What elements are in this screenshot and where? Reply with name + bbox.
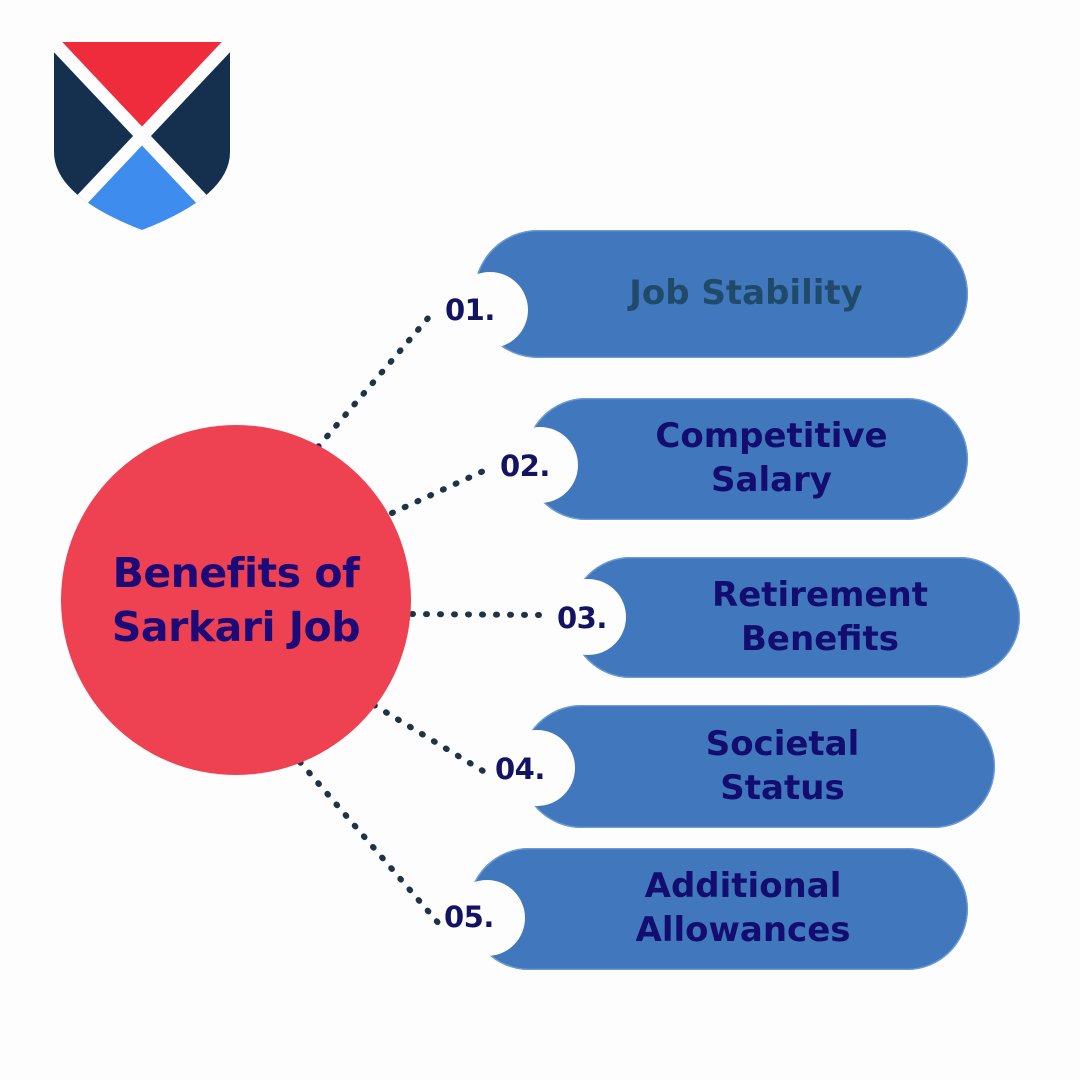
item-number-02: 02.	[500, 449, 550, 483]
shield-logo	[52, 40, 232, 232]
item-bar-competitive-salary[interactable]: Competitive Salary	[525, 398, 968, 520]
center-circle-label: Benefits of Sarkari Job	[86, 546, 386, 654]
item-bar-retirement-benefits[interactable]: Retirement Benefits	[570, 557, 1020, 678]
item-label-societal-status: Societal Status	[520, 705, 995, 828]
shield-logo-svg	[52, 40, 232, 232]
connector-line-03	[412, 614, 540, 615]
connector-line-01	[318, 310, 435, 447]
item-number-04: 04.	[495, 752, 545, 786]
connector-line-04	[374, 705, 488, 774]
infographic-canvas: Benefits of Sarkari Job Job Stability01.…	[0, 0, 1080, 1080]
connector-line-02	[392, 468, 490, 513]
item-label-additional-allowances: Additional Allowances	[468, 848, 968, 970]
item-bar-societal-status[interactable]: Societal Status	[520, 705, 995, 828]
item-number-03: 03.	[557, 601, 607, 635]
connector-line-05	[300, 762, 440, 925]
item-label-retirement-benefits: Retirement Benefits	[570, 557, 1020, 678]
item-number-01: 01.	[445, 293, 495, 327]
item-bar-additional-allowances[interactable]: Additional Allowances	[468, 848, 968, 970]
item-bar-job-stability[interactable]: Job Stability	[474, 230, 968, 358]
center-circle: Benefits of Sarkari Job	[61, 425, 411, 775]
item-label-job-stability: Job Stability	[474, 230, 968, 358]
item-number-05: 05.	[444, 900, 494, 934]
item-label-competitive-salary: Competitive Salary	[525, 398, 968, 520]
